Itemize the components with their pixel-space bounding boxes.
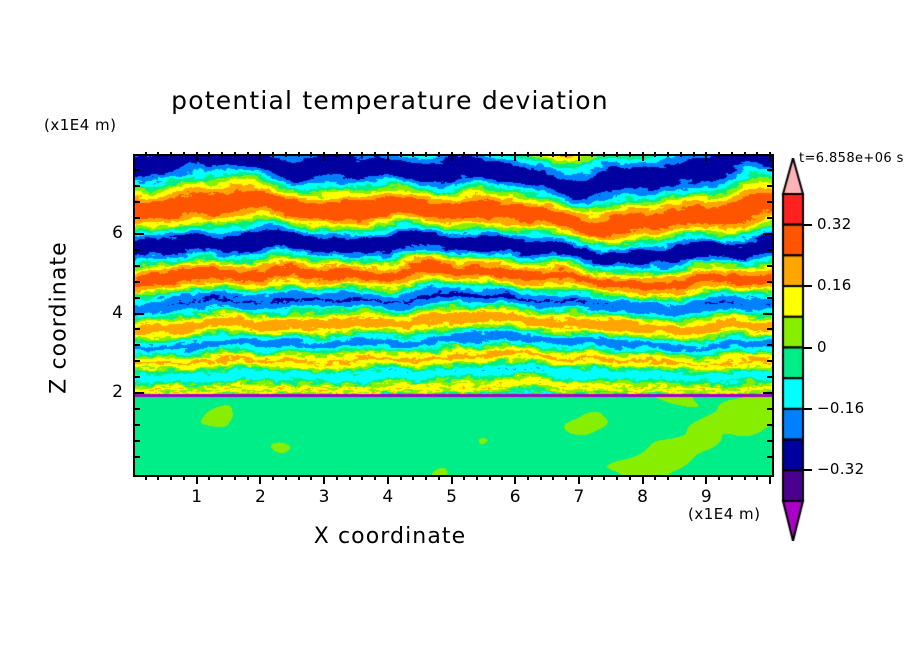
y-tick-minor-right [767,328,772,330]
x-tick-minor-top [591,152,593,157]
x-axis-label: X coordinate [0,524,780,549]
x-tick-minor [349,475,351,480]
x-tick-minor [157,475,159,480]
x-tick-minor [489,475,491,480]
x-tick-minor [565,475,567,480]
y-tick-minor-right [767,281,772,283]
x-tick-minor-top [170,152,172,157]
y-tick-minor [135,297,140,299]
x-tick-major [642,475,644,484]
x-tick-minor-top [425,152,427,157]
x-tick-minor [476,475,478,480]
y-tick-minor-right [767,440,772,442]
colorbar-tick [803,285,812,287]
x-tick-minor-top [744,152,746,157]
x-tick-major [387,475,389,484]
y-tick-label: 2 [89,382,123,402]
x-tick-minor [272,475,274,480]
y-tick-major-right [763,233,772,235]
colorbar-tick [803,347,812,349]
x-tick-label: 1 [177,487,217,507]
y-tick-minor [135,169,140,171]
x-tick-minor [629,475,631,480]
x-tick-minor-top [680,152,682,157]
y-tick-major [135,233,144,235]
y-tick-minor-right [767,185,772,187]
x-tick-minor-top [336,152,338,157]
x-tick-major [451,475,453,484]
y-tick-minor-right [767,456,772,458]
x-tick-minor-top [412,152,414,157]
x-tick-minor [756,475,758,480]
x-tick-minor [718,475,720,480]
y-tick-minor [135,185,140,187]
x-tick-minor-top [157,152,159,157]
y-tick-minor-right [767,360,772,362]
x-tick-label: 3 [304,487,344,507]
y-tick-minor-right [767,376,772,378]
x-tick-minor-top [552,152,554,157]
x-tick-minor [247,475,249,480]
x-tick-major [259,475,261,484]
y-tick-minor [135,201,140,203]
y-tick-minor-right [767,424,772,426]
x-tick-major [196,475,198,484]
x-tick-minor [744,475,746,480]
x-tick-major-top [451,152,453,161]
x-tick-minor-top [234,152,236,157]
x-tick-minor-top [145,152,147,157]
x-tick-minor [501,475,503,480]
x-tick-minor [731,475,733,480]
x-tick-minor-top [489,152,491,157]
y-tick-minor [135,281,140,283]
x-tick-major-top [769,152,771,161]
x-tick-major-top [323,152,325,161]
x-tick-minor-top [565,152,567,157]
x-tick-minor [400,475,402,480]
x-tick-minor-top [667,152,669,157]
y-tick-minor [135,408,140,410]
x-tick-minor-top [603,152,605,157]
x-tick-minor [527,475,529,480]
x-tick-minor [425,475,427,480]
x-tick-minor-top [310,152,312,157]
y-tick-minor [135,424,140,426]
x-tick-minor-top [540,152,542,157]
x-tick-minor [285,475,287,480]
x-tick-minor [145,475,147,480]
y-tick-minor-right [767,169,772,171]
x-tick-minor [412,475,414,480]
x-tick-minor-top [476,152,478,157]
x-tick-minor [463,475,465,480]
x-tick-label: 4 [368,487,408,507]
y-tick-minor-right [767,265,772,267]
colorbar-tick [803,469,812,471]
colorbar-tick-label: −0.16 [817,399,864,417]
x-tick-minor [616,475,618,480]
x-tick-major-top [642,152,644,161]
x-tick-major [705,475,707,484]
colorbar-tick-label: 0.16 [817,276,852,294]
y-tick-minor-right [767,408,772,410]
x-tick-minor-top [349,152,351,157]
y-axis-label: Z coordinate [47,218,72,418]
x-tick-minor-top [718,152,720,157]
colorbar-tick [803,408,812,410]
x-tick-minor [298,475,300,480]
x-tick-minor-top [731,152,733,157]
x-tick-minor-top [654,152,656,157]
contour-field [135,156,772,475]
y-tick-minor [135,249,140,251]
x-tick-minor [336,475,338,480]
x-tick-minor [654,475,656,480]
x-tick-major [578,475,580,484]
x-tick-major-top [196,152,198,161]
colorbar-tick-label: 0.32 [817,215,852,233]
x-tick-minor [234,475,236,480]
y-tick-minor-right [767,201,772,203]
plot-area [133,154,774,477]
x-tick-minor-top [438,152,440,157]
x-tick-major-top [578,152,580,161]
x-tick-minor-top [629,152,631,157]
x-tick-minor [591,475,593,480]
y-tick-major [135,313,144,315]
y-tick-minor [135,456,140,458]
x-tick-minor-top [501,152,503,157]
page-title: potential temperature deviation [0,86,780,115]
y-tick-minor [135,328,140,330]
figure-root: potential temperature deviation (x1E4 m)… [0,0,904,654]
y-tick-minor-right [767,217,772,219]
y-tick-minor [135,376,140,378]
x-tick-major-top [705,152,707,161]
y-tick-minor-right [767,297,772,299]
x-tick-minor-top [693,152,695,157]
x-tick-minor [552,475,554,480]
x-tick-minor-top [208,152,210,157]
x-tick-major [769,475,771,484]
x-tick-minor [540,475,542,480]
x-tick-minor [310,475,312,480]
colorbar-gradient [781,158,805,541]
x-tick-minor-top [361,152,363,157]
y-tick-major-right [763,392,772,394]
colorbar-tick-label: 0 [817,338,827,356]
x-tick-minor [374,475,376,480]
x-tick-minor-top [285,152,287,157]
x-tick-minor [603,475,605,480]
x-tick-minor [183,475,185,480]
y-tick-label: 4 [89,303,123,323]
x-tick-label: 2 [240,487,280,507]
x-axis-units: (x1E4 m) [688,505,761,523]
x-tick-minor [680,475,682,480]
y-tick-label: 6 [89,223,123,243]
x-tick-minor [208,475,210,480]
x-tick-minor [667,475,669,480]
x-tick-major-top [387,152,389,161]
x-tick-minor-top [221,152,223,157]
colorbar-tick-label: −0.32 [817,460,864,478]
x-tick-minor [693,475,695,480]
x-tick-minor-top [616,152,618,157]
x-tick-major-top [514,152,516,161]
x-tick-minor-top [247,152,249,157]
x-tick-minor-top [272,152,274,157]
colorbar-tick [803,224,812,226]
y-tick-minor [135,360,140,362]
x-tick-minor [170,475,172,480]
y-tick-minor [135,344,140,346]
x-tick-minor-top [400,152,402,157]
x-tick-minor-top [183,152,185,157]
y-tick-major [135,392,144,394]
x-tick-major [514,475,516,484]
y-axis-units: (x1E4 m) [44,116,117,134]
colorbar [781,158,805,541]
x-tick-label: 6 [495,487,535,507]
x-tick-label: 9 [686,487,726,507]
x-tick-minor [438,475,440,480]
x-tick-minor [361,475,363,480]
x-tick-label: 7 [559,487,599,507]
x-tick-minor-top [527,152,529,157]
y-tick-minor-right [767,249,772,251]
x-tick-major [323,475,325,484]
y-tick-major-right [763,313,772,315]
x-tick-major-top [259,152,261,161]
x-tick-minor-top [298,152,300,157]
time-stamp: t=6.858e+06 s [799,151,904,166]
y-tick-minor-right [767,344,772,346]
x-tick-minor-top [756,152,758,157]
y-tick-minor [135,217,140,219]
y-tick-minor [135,265,140,267]
x-tick-label: 5 [432,487,472,507]
x-tick-minor [221,475,223,480]
x-tick-minor-top [463,152,465,157]
x-tick-minor-top [374,152,376,157]
y-tick-minor [135,440,140,442]
x-tick-label: 8 [623,487,663,507]
